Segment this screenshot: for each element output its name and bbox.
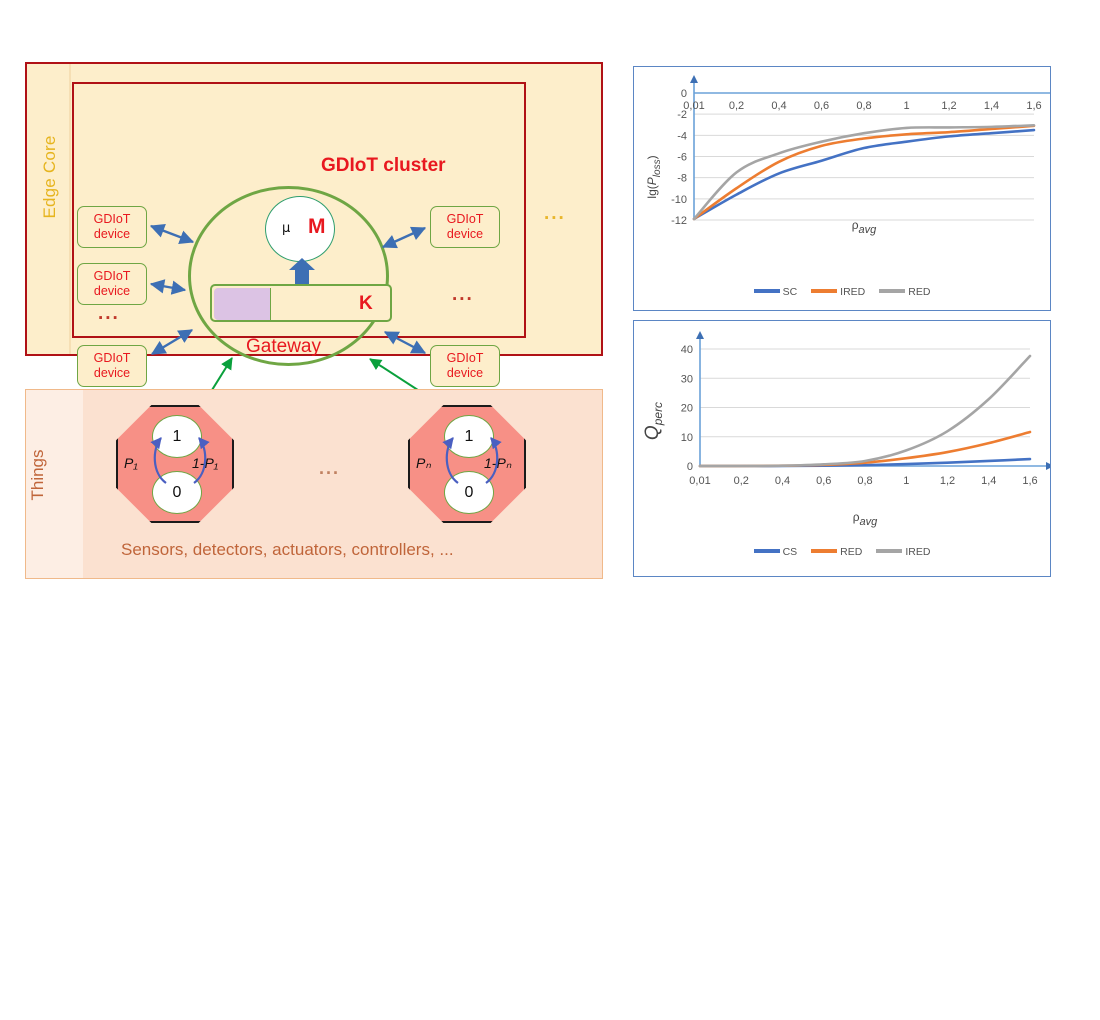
x-tick-label: 0,4 [771, 100, 786, 112]
gdiot-device-box: GDIoT device [430, 345, 500, 387]
device-label-line1: GDIoT [94, 212, 131, 226]
gdiot-cluster-title: GDIoT cluster [321, 155, 446, 177]
k-symbol: K [359, 293, 373, 315]
legend-swatch [754, 549, 780, 552]
ellipsis-right: ... [452, 284, 474, 306]
y-tick-label: 10 [681, 432, 693, 444]
y-axis-arrowhead [696, 331, 704, 339]
thing-octagon: 1 0 P₁ 1-P₁ [116, 405, 234, 523]
edge-core-strip-divider [69, 64, 71, 354]
things-band: Things 1 0 P₁ 1-P₁ 1 0 Pₙ 1-Pₙ ... Se [25, 389, 603, 579]
y-tick-label: 40 [681, 344, 693, 356]
legend-label: IRED [905, 546, 930, 558]
q-perc-legend: CSREDIRED [634, 543, 1050, 561]
gateway-label: Gateway [246, 336, 321, 358]
x-tick-label: 0,2 [729, 100, 744, 112]
legend-swatch [876, 549, 902, 552]
y-tick-label: -8 [677, 173, 687, 185]
legend-swatch [811, 549, 837, 552]
device-label-line1: GDIoT [94, 269, 131, 283]
series-line-sc [694, 130, 1034, 219]
x-tick-label: 1 [903, 475, 909, 487]
p-loss-legend: SCIREDRED [634, 283, 1050, 301]
edge-core-label: Edge Core [40, 133, 60, 221]
legend-label: SC [783, 286, 798, 298]
x-axis-label: ρavg [853, 510, 878, 528]
device-label-line2: device [94, 366, 130, 380]
x-tick-label: 1,2 [941, 100, 956, 112]
q-perc-plot: 4030201000,010,20,40,60,811,21,41,6ρavgQ… [634, 321, 1050, 576]
y-tick-label: -12 [671, 215, 687, 227]
ellipsis-outer-cluster: ... [544, 203, 566, 225]
ellipsis-things: ... [319, 458, 340, 479]
q-perc-chart: 4030201000,010,20,40,60,811,21,41,6ρavgQ… [633, 320, 1051, 577]
things-caption: Sensors, detectors, actuators, controlle… [121, 540, 454, 560]
y-tick-label: -6 [677, 152, 687, 164]
gdiot-device-box: GDIoT device [77, 206, 147, 248]
x-tick-label: 0,6 [816, 475, 831, 487]
x-tick-label: 1,6 [1022, 475, 1037, 487]
y-tick-label: 20 [681, 403, 693, 415]
legend-label: RED [908, 286, 930, 298]
legend-item-cs: CS [754, 546, 798, 558]
x-tick-label: 0,01 [689, 475, 710, 487]
legend-swatch [754, 289, 780, 292]
thing-octagon: 1 0 Pₙ 1-Pₙ [408, 405, 526, 523]
x-axis-label: ρavg [852, 218, 877, 236]
legend-item-ired: IRED [811, 286, 865, 298]
legend-swatch [879, 289, 905, 292]
device-label-line2: device [447, 227, 483, 241]
legend-item-ired: IRED [876, 546, 930, 558]
x-tick-label: 1,4 [981, 475, 996, 487]
device-label-line2: device [94, 284, 130, 298]
m-symbol: M [308, 215, 326, 239]
mu-symbol: μ [282, 221, 290, 236]
y-axis-label: Qperc [642, 402, 665, 440]
y-tick-label: -4 [677, 130, 687, 142]
legend-swatch [811, 289, 837, 292]
device-label-line1: GDIoT [447, 212, 484, 226]
legend-label: CS [783, 546, 798, 558]
y-tick-label: 0 [687, 461, 693, 473]
device-label-line1: GDIoT [447, 351, 484, 365]
x-tick-label: 1,6 [1026, 100, 1041, 112]
y-axis-label: lg(Ploss) [645, 155, 663, 198]
x-axis-arrowhead [1046, 462, 1050, 470]
x-tick-label: 0,4 [775, 475, 790, 487]
legend-label: IRED [840, 286, 865, 298]
x-tick-label: 0,8 [856, 100, 871, 112]
things-label: Things [28, 441, 48, 509]
state-transition-arrows [410, 407, 528, 525]
x-tick-label: 1,2 [940, 475, 955, 487]
p-loss-plot: 0-2-4-6-8-10-120,010,20,40,60,811,21,41,… [634, 67, 1050, 310]
device-label-line1: GDIoT [94, 351, 131, 365]
device-label-line2: device [447, 366, 483, 380]
y-tick-label: 30 [681, 373, 693, 385]
y-axis-arrowhead [690, 75, 698, 83]
gdiot-device-box: GDIoT device [77, 345, 147, 387]
p-loss-chart: 0-2-4-6-8-10-120,010,20,40,60,811,21,41,… [633, 66, 1051, 311]
architecture-diagram: Edge Core GDIoT cluster μ M K Gateway GD… [25, 62, 603, 579]
x-tick-label: 0,01 [683, 100, 704, 112]
x-tick-label: 0,6 [814, 100, 829, 112]
x-tick-label: 1,4 [984, 100, 999, 112]
x-tick-label: 0,2 [734, 475, 749, 487]
legend-label: RED [840, 546, 862, 558]
state-transition-arrows [118, 407, 236, 525]
legend-item-red: RED [811, 546, 862, 558]
device-label-line2: device [94, 227, 130, 241]
x-tick-label: 0,8 [857, 475, 872, 487]
series-line-ired [694, 126, 1034, 219]
gdiot-device-box: GDIoT device [77, 263, 147, 305]
ellipsis-left: ... [98, 303, 120, 325]
y-tick-label: -10 [671, 194, 687, 206]
queue-fill [214, 288, 271, 320]
series-line-ired [700, 356, 1030, 466]
legend-item-sc: SC [754, 286, 798, 298]
x-tick-label: 1 [903, 100, 909, 112]
legend-item-red: RED [879, 286, 930, 298]
y-tick-label: 0 [681, 88, 687, 100]
gdiot-device-box: GDIoT device [430, 206, 500, 248]
